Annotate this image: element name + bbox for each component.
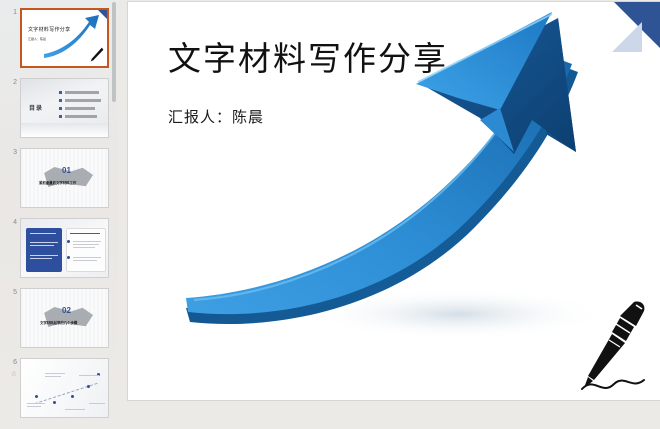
mini-subtitle-1: 汇报人：陈晨 bbox=[28, 37, 46, 41]
mini-section-number-5: 02 bbox=[62, 306, 71, 315]
thumbnail-number-4: 4 bbox=[3, 218, 17, 227]
mini-section-title-3: 紧抓重量抓文字材料工作 bbox=[39, 180, 76, 185]
thumbnail-number-2: 2 bbox=[3, 78, 17, 87]
mini-toc-label: 目录 bbox=[29, 103, 43, 112]
star-icon[interactable]: ☆ bbox=[3, 370, 17, 379]
thumbnail-number-6: 6 bbox=[3, 358, 17, 367]
thumbnail-number-5: 5 bbox=[3, 288, 17, 297]
mini-section-title-5: 文字材料起草的几个步骤 bbox=[40, 320, 77, 325]
thumbnail-scrollbar-thumb[interactable] bbox=[112, 2, 116, 102]
slide-title[interactable]: 文字材料写作分享 bbox=[168, 32, 448, 80]
pen-icon bbox=[564, 296, 650, 392]
thumbnail-image-5[interactable]: 02 文字材料起草的几个步骤 bbox=[20, 288, 109, 348]
slide-thumbnail-panel[interactable]: 1 文字材料写作分享 汇报人：陈晨 bbox=[0, 0, 118, 429]
slide-subtitle[interactable]: 汇报人：陈晨 bbox=[168, 106, 264, 127]
thumbnail-image-1[interactable]: 文字材料写作分享 汇报人：陈晨 bbox=[20, 8, 109, 68]
mini-title-1: 文字材料写作分享 bbox=[28, 26, 70, 33]
mini-section-number-3: 01 bbox=[62, 166, 71, 175]
mini-pen-icon bbox=[88, 46, 104, 64]
powerpoint-window: 1 文字材料写作分享 汇报人：陈晨 bbox=[0, 0, 660, 429]
thumbnail-image-4[interactable] bbox=[20, 218, 109, 278]
slide-canvas[interactable]: 文字材料写作分享 汇报人：陈晨 bbox=[128, 2, 660, 400]
thumbnail-number-3: 3 bbox=[3, 148, 17, 157]
thumbnail-scrollbar-track[interactable] bbox=[111, 0, 117, 429]
thumbnail-image-3[interactable]: 01 紧抓重量抓文字材料工作 bbox=[20, 148, 109, 208]
thumbnail-image-6[interactable] bbox=[20, 358, 109, 418]
slide-stage: 文字材料写作分享 汇报人：陈晨 bbox=[118, 0, 660, 429]
thumbnail-number-1: 1 bbox=[3, 8, 17, 17]
thumbnail-image-2[interactable]: 目录 bbox=[20, 78, 109, 138]
